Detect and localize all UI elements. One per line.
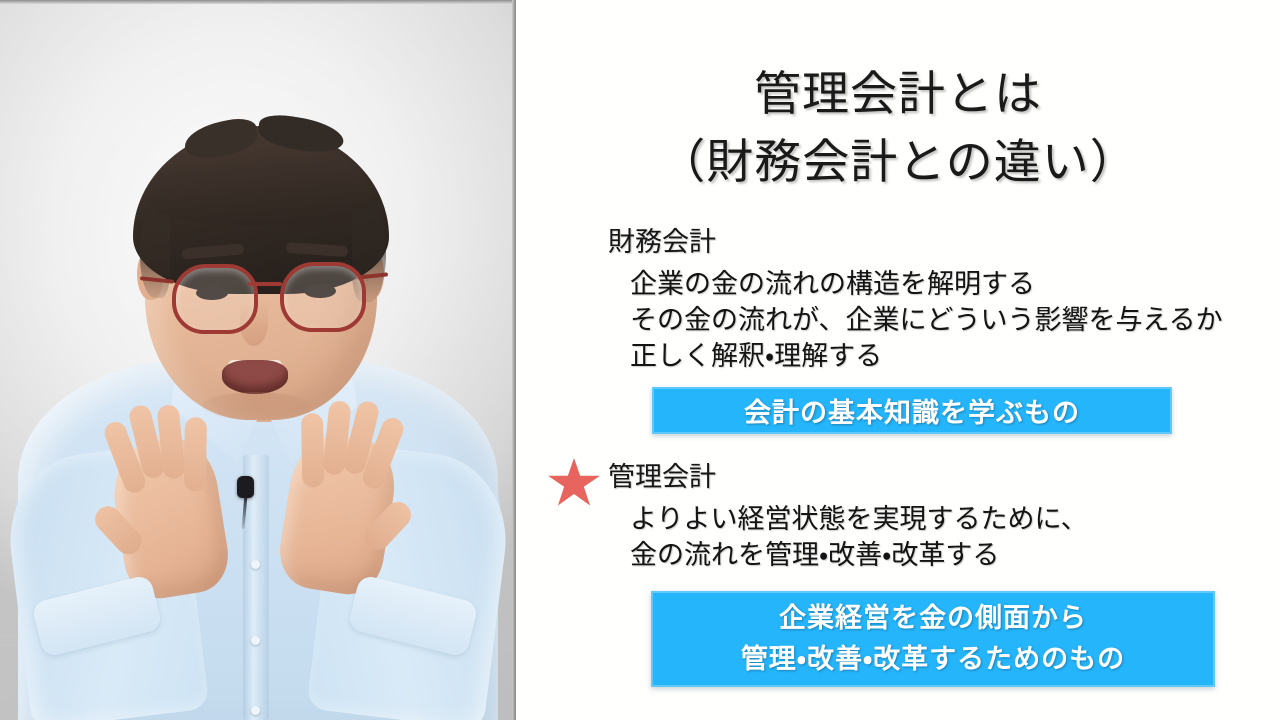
star-icon — [548, 458, 600, 508]
callout-line: 管理・改善・改革するためのもの — [741, 639, 1125, 680]
slide-panel: 管理会計とは （財務会計との違い） 財務会計 企業の金の流れの構造を解明する そ… — [516, 0, 1280, 720]
lapel-microphone — [237, 476, 254, 498]
section-heading-management-accounting: 管理会計 — [608, 461, 716, 495]
mouth-open — [222, 360, 288, 394]
callout-line: 会計の基本知識を学ぶもの — [744, 391, 1080, 430]
body-line: 金の流れを管理・改善・改革する — [630, 537, 1088, 573]
shirt-button — [251, 560, 260, 569]
callout-line: 企業経営を金の側面から — [779, 598, 1087, 639]
body-line: 正しく解釈・理解する — [630, 338, 1223, 374]
slide-title-line-1: 管理会計とは — [516, 66, 1280, 121]
section-body-financial-accounting: 企業の金の流れの構造を解明する その金の流れが、企業にどういう影響を与えるか 正… — [630, 266, 1223, 374]
presenter-video-panel[interactable] — [0, 0, 516, 720]
chin-shadow — [202, 392, 310, 420]
glasses-bridge — [248, 282, 282, 286]
section-heading-financial-accounting: 財務会計 — [608, 226, 716, 260]
callout-box-management-accounting: 企業経営を金の側面から 管理・改善・改革するためのもの — [651, 591, 1215, 687]
finger — [184, 417, 207, 491]
finger — [301, 413, 324, 487]
glasses-lens-left — [172, 264, 258, 334]
video-slide-screen: 管理会計とは （財務会計との違い） 財務会計 企業の金の流れの構造を解明する そ… — [0, 0, 1280, 720]
callout-box-financial-accounting: 会計の基本知識を学ぶもの — [652, 387, 1172, 434]
body-line: よりよい経営状態を実現するために、 — [630, 501, 1088, 537]
shirt-button — [251, 636, 260, 645]
presenter-figure — [0, 0, 516, 720]
video-top-edge — [0, 0, 516, 4]
body-line: 企業の金の流れの構造を解明する — [630, 266, 1223, 302]
shirt-button — [251, 706, 260, 715]
section-body-management-accounting: よりよい経営状態を実現するために、 金の流れを管理・改善・改革する — [630, 501, 1088, 573]
slide-title-line-2: （財務会計との違い） — [516, 134, 1280, 189]
body-line: その金の流れが、企業にどういう影響を与えるか — [630, 302, 1223, 338]
sideburn-left — [140, 214, 170, 298]
panel-divider — [512, 0, 516, 720]
glasses-lens-right — [280, 262, 366, 332]
